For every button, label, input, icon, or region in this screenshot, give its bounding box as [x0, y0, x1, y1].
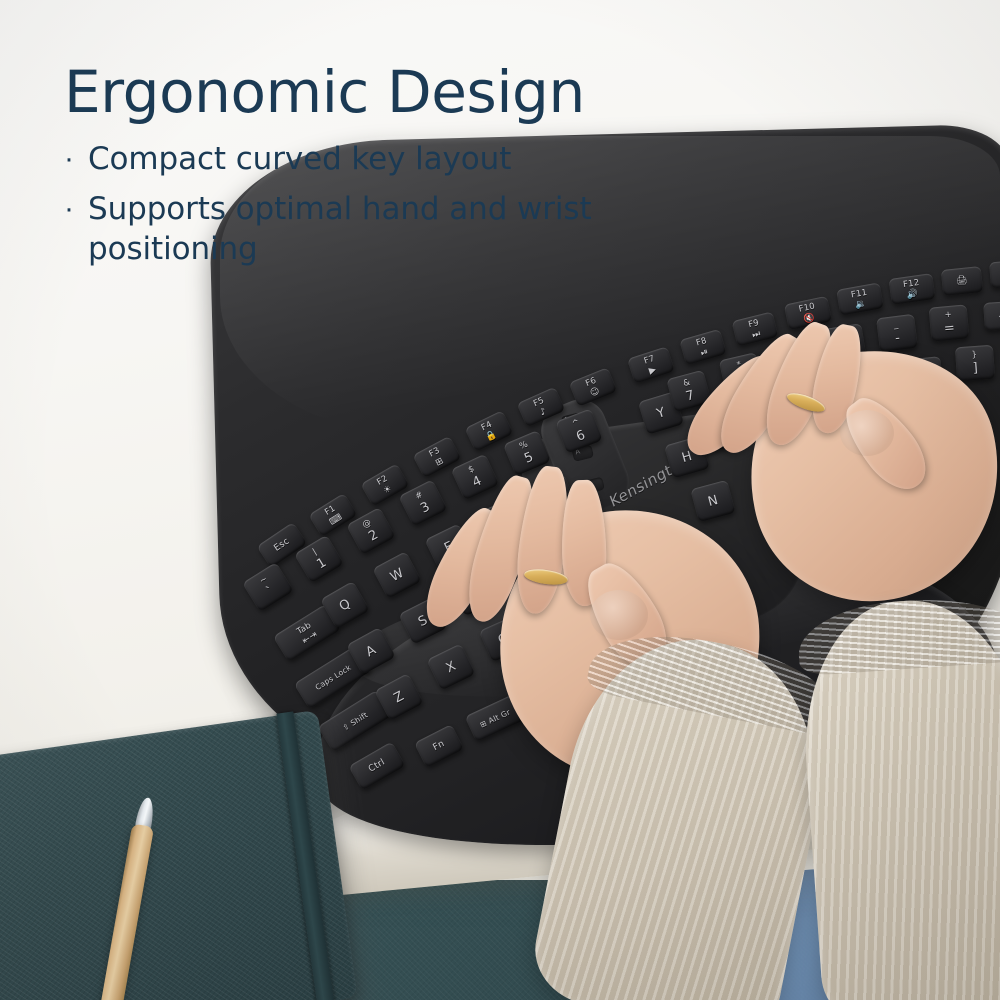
bullet-marker-icon: ·: [64, 140, 74, 174]
key-primary-legend: 2: [366, 527, 381, 544]
key-primary-legend: Ctrl: [367, 757, 387, 774]
key-primary-legend: Y: [655, 405, 667, 422]
bullet-marker-icon: ·: [64, 190, 74, 224]
feature-bullet-list: ·Compact curved key layout·Supports opti…: [64, 140, 684, 269]
key-primary-legend: 🔊: [906, 289, 919, 301]
key-primary-legend: ☺: [589, 386, 602, 399]
key-primary-legend: Z: [391, 688, 406, 706]
key-primary-legend: 🖨: [956, 275, 969, 286]
page-title: Ergonomic Design: [64, 62, 684, 122]
left-knuckle: [590, 590, 648, 640]
key-secondary-legend: |: [311, 547, 319, 557]
key-primary-legend: ⇧ Shift: [341, 710, 369, 732]
key-primary-legend: Q: [337, 596, 354, 614]
bullet-text: Supports optimal hand and wrist position…: [88, 190, 608, 269]
right-sweater-sleeve: [796, 592, 1000, 1000]
key-primary-legend: 1: [314, 555, 329, 572]
notebook: [0, 707, 379, 1000]
key-primary-legend: W: [388, 565, 407, 584]
feature-bullet: ·Supports optimal hand and wrist positio…: [64, 190, 684, 269]
key-primary-legend: ▶: [648, 364, 658, 376]
key-primary-legend: Esc: [272, 536, 291, 553]
copy-block: Ergonomic Design ·Compact curved key lay…: [64, 62, 684, 279]
key-primary-legend: `: [264, 583, 278, 599]
feature-bullet: ·Compact curved key layout: [64, 140, 684, 180]
right-knuckle: [840, 410, 894, 456]
key-primary-legend: ♪: [538, 406, 548, 418]
key-primary-legend: ☀: [382, 483, 394, 496]
bullet-text: Compact curved key layout: [88, 140, 511, 180]
key-primary-legend: A: [363, 642, 378, 660]
key-[interactable]: 🖨: [941, 266, 983, 296]
product-marketing-image: 1 A B Kensington Esc~`Tab⇤⇥Caps Lock⇧ Sh…: [0, 0, 1000, 1000]
